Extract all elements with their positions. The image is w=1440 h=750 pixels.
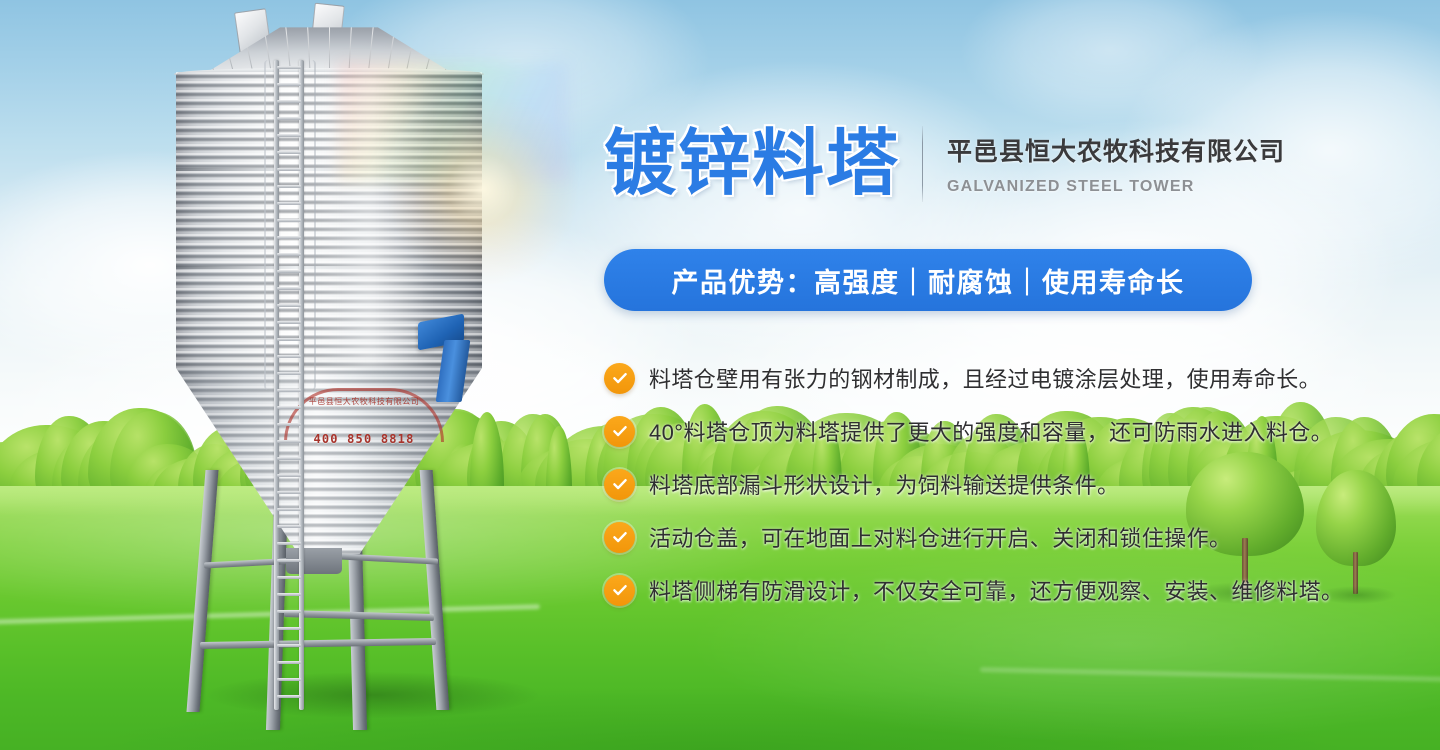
advantage-bar-text: 产品优势：高强度｜耐腐蚀｜使用寿命长 [672, 261, 1185, 300]
ladder-rung [277, 661, 301, 664]
ladder-rung [277, 83, 301, 86]
advantage-bar: 产品优势：高强度｜耐腐蚀｜使用寿命长 [604, 249, 1252, 311]
ladder-rung [277, 627, 301, 630]
feature-item-label: 40°料塔仓顶为料塔提供了更大的强度和容量，还可防雨水进入料仓。 [649, 415, 1333, 447]
ladder-rung [277, 576, 301, 579]
ladder-rung [277, 372, 301, 375]
title-row: 镀锌料塔 平邑县恒大农牧科技有限公司 GALVANIZED STEEL TOWE… [604, 112, 1304, 216]
ladder-rung [277, 270, 301, 273]
ladder-rung [277, 338, 301, 341]
silo-ground-shadow [208, 672, 538, 718]
company-name-en: GALVANIZED STEEL TOWER [947, 178, 1285, 196]
page-title: 镀锌料塔 [604, 128, 900, 200]
check-circle-icon [604, 522, 635, 553]
company-name: 平邑县恒大农牧科技有限公司 [947, 132, 1285, 168]
ladder-rung [277, 355, 301, 358]
silo-ladder [274, 60, 304, 710]
ladder-rung [277, 559, 301, 562]
ladder-rung [277, 406, 301, 409]
feature-item: 40°料塔仓顶为料塔提供了更大的强度和容量，还可防雨水进入料仓。 [604, 405, 1304, 457]
ladder-rung [277, 542, 301, 545]
feature-item-label: 料塔底部漏斗形状设计，为饲料输送提供条件。 [649, 468, 1119, 500]
roof-seam [176, 24, 197, 77]
ladder-rung [277, 100, 301, 103]
feature-item: 料塔侧梯有防滑设计，不仅安全可靠，还方便观察、安装、维修料塔。 [604, 564, 1304, 616]
ladder-rung [277, 304, 301, 307]
ladder-rung [277, 610, 301, 613]
ladder-rung [277, 593, 301, 596]
ladder-rung [277, 321, 301, 324]
ladder-rung [277, 287, 301, 290]
ladder-rung [277, 457, 301, 460]
feature-item: 活动仓盖，可在地面上对料仓进行开启、关闭和锁住操作。 [604, 511, 1304, 563]
silo-leg [186, 470, 218, 712]
ladder-rung [277, 474, 301, 477]
banner-content: 镀锌料塔 平邑县恒大农牧科技有限公司 GALVANIZED STEEL TOWE… [604, 0, 1304, 750]
title-divider [922, 126, 923, 202]
ladder-rung [277, 423, 301, 426]
check-circle-icon [604, 469, 635, 500]
company-block: 平邑县恒大农牧科技有限公司 GALVANIZED STEEL TOWER [947, 132, 1285, 196]
ladder-rung [277, 695, 301, 698]
ladder-rung [277, 151, 301, 154]
feature-item: 料塔底部漏斗形状设计，为饲料输送提供条件。 [604, 458, 1304, 510]
ladder-rung [277, 253, 301, 256]
check-circle-icon [604, 363, 635, 394]
feature-list: 料塔仓壁用有张力的钢材制成，且经过电镀涂层处理，使用寿命长。40°料塔仓顶为料塔… [604, 352, 1304, 616]
feature-item-label: 料塔侧梯有防滑设计，不仅安全可靠，还方便观察、安装、维修料塔。 [649, 574, 1343, 606]
ladder-rung [277, 644, 301, 647]
ladder-rung [277, 440, 301, 443]
ladder-rung [277, 168, 301, 171]
silo-brace [200, 638, 436, 649]
ladder-rung [277, 236, 301, 239]
ladder-rung [277, 525, 301, 528]
banner-stage: 平邑县恒大农牧科技有限公司 400 850 8818 镀锌料塔 平邑县恒大农牧科… [0, 0, 1440, 750]
feature-item: 料塔仓壁用有张力的钢材制成，且经过电镀涂层处理，使用寿命长。 [604, 352, 1304, 404]
ladder-rung [277, 389, 301, 392]
ladder-rung [277, 134, 301, 137]
feature-item-label: 活动仓盖，可在地面上对料仓进行开启、关闭和锁住操作。 [649, 521, 1231, 553]
roof-seam [462, 24, 483, 77]
check-circle-icon [604, 575, 635, 606]
ladder-rung [277, 678, 301, 681]
ladder-rung [277, 66, 301, 69]
check-circle-icon [604, 416, 635, 447]
ladder-rung [277, 491, 301, 494]
ladder-rung [277, 185, 301, 188]
ladder-rung [277, 202, 301, 205]
ladder-rung [277, 117, 301, 120]
ladder-rung [277, 508, 301, 511]
feature-item-label: 料塔仓壁用有张力的钢材制成，且经过电镀涂层处理，使用寿命长。 [649, 362, 1321, 394]
galvanized-feed-silo: 平邑县恒大农牧科技有限公司 400 850 8818 [88, 0, 558, 750]
ladder-rung [277, 219, 301, 222]
